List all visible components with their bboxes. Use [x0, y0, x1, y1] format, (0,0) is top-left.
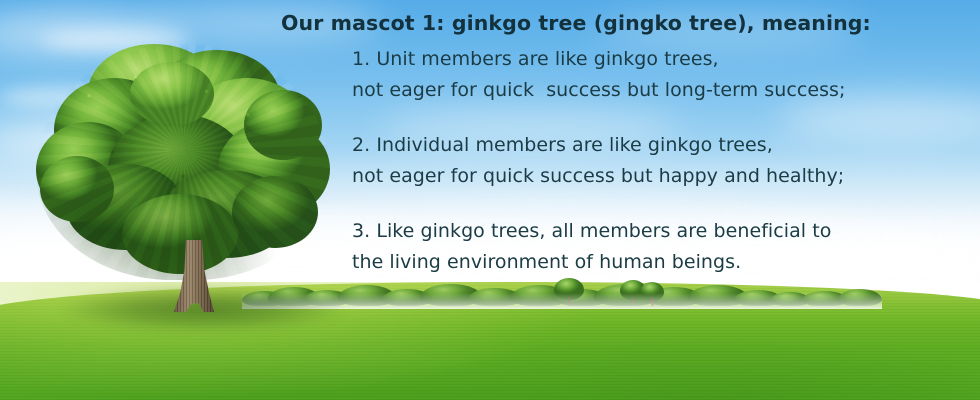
meaning-item-1: 1. Unit members are like ginkgo trees, n… — [352, 44, 952, 106]
meaning-item-3: 3. Like ginkgo trees, all members are be… — [352, 216, 952, 278]
banner-headline: Our mascot 1: ginkgo tree (gingko tree),… — [281, 11, 871, 35]
banner-body: 1. Unit members are like ginkgo trees, n… — [352, 44, 952, 278]
text-overlay: Our mascot 1: ginkgo tree (gingko tree),… — [0, 0, 980, 400]
mascot-banner: Our mascot 1: ginkgo tree (gingko tree),… — [0, 0, 980, 400]
meaning-item-2: 2. Individual members are like ginkgo tr… — [352, 130, 952, 192]
